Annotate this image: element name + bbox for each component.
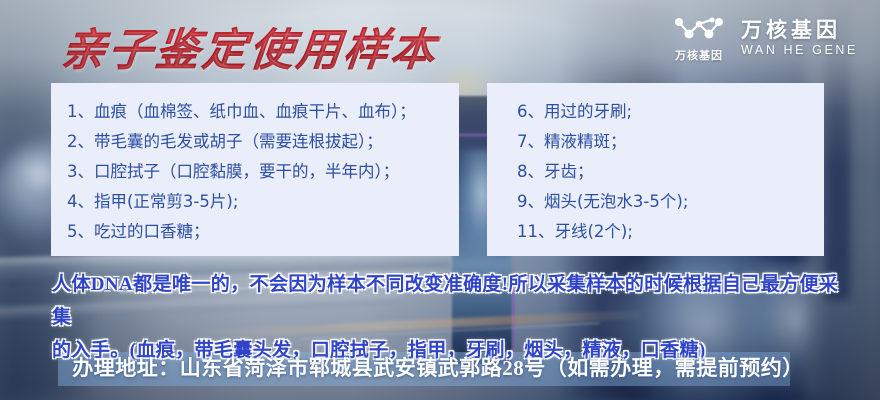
page-title: 亲子鉴定使用样本 bbox=[59, 14, 442, 78]
list-item: 2、带毛囊的毛发或胡子（需要连根拔起）； bbox=[67, 127, 443, 157]
list-item: 6、用过的牙刷; bbox=[503, 97, 808, 127]
sample-list-left: 1、血痕（血棉签、纸巾血、血痕干片、血布）； 2、带毛囊的毛发或胡子（需要连根拔… bbox=[67, 97, 443, 247]
address-text: 办理地址：山东省菏泽市郓城县武安镇武郭路28号（如需办理，需提前预约） bbox=[58, 350, 818, 386]
logo-mark: 万核基因 bbox=[671, 14, 727, 63]
list-item: 7、精液精斑； bbox=[503, 127, 808, 157]
list-item: 4、指甲(正常剪3-5片); bbox=[67, 187, 443, 217]
brand-logo: 万核基因 万核基因 WAN HE GENE bbox=[671, 14, 858, 63]
logo-name-en: WAN HE GENE bbox=[741, 42, 858, 58]
list-item: 3、口腔拭子（口腔黏膜，要干的，半年内）； bbox=[67, 157, 443, 187]
list-item: 9、烟头(无泡水3-5个); bbox=[503, 187, 808, 217]
list-item: 11、牙线(2个); bbox=[503, 217, 808, 247]
list-item: 1、血痕（血棉签、纸巾血、血痕干片、血布）； bbox=[67, 97, 443, 127]
sample-list-panel-left: 1、血痕（血棉签、纸巾血、血痕干片、血布）； 2、带毛囊的毛发或胡子（需要连根拔… bbox=[51, 83, 459, 256]
list-item: 5、吃过的口香糖； bbox=[67, 217, 443, 247]
logo-mark-caption: 万核基因 bbox=[675, 47, 723, 63]
logo-wordmark: 万核基因 WAN HE GENE bbox=[741, 19, 858, 59]
list-item: 8、牙齿； bbox=[503, 157, 808, 187]
logo-name-cn: 万核基因 bbox=[741, 19, 858, 43]
paragraph-line-1: 人体DNA都是唯一的，不会因为样本不同改变准确度!所以采集样本的时候根据自己最方… bbox=[52, 274, 838, 328]
poster-root: 万核基因 万核基因 WAN HE GENE 亲子鉴定使用样本 1、血痕（血棉签、… bbox=[0, 0, 880, 400]
sample-list-right: 6、用过的牙刷; 7、精液精斑； 8、牙齿； 9、烟头(无泡水3-5个); 11… bbox=[503, 97, 808, 247]
sample-list-panel-right: 6、用过的牙刷; 7、精液精斑； 8、牙齿； 9、烟头(无泡水3-5个); 11… bbox=[487, 83, 824, 256]
molecule-network-icon bbox=[671, 14, 727, 44]
